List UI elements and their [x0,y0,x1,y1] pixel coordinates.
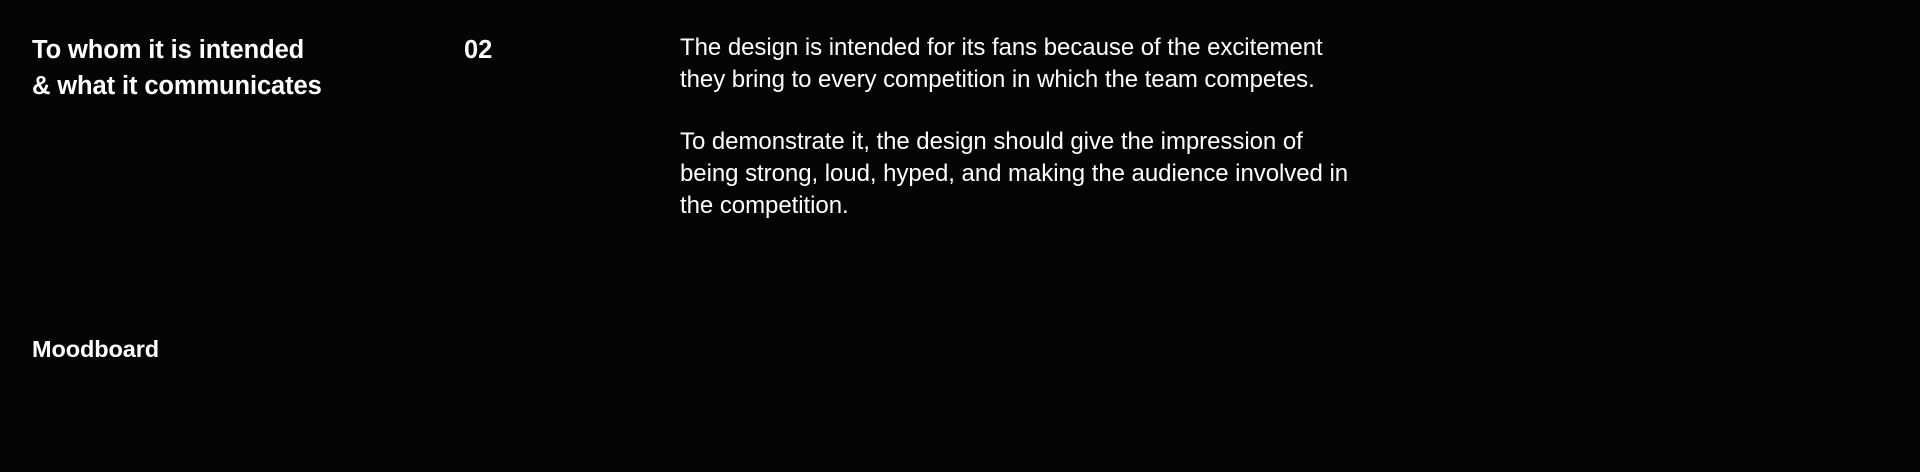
body-copy: The design is intended for its fans beca… [680,32,1520,222]
moodboard-label: Moodboard [32,333,159,366]
body-paragraph-2-line-1: To demonstrate it, the design should giv… [680,126,1520,158]
body-paragraph-2-line-2: being strong, loud, hyped, and making th… [680,158,1520,190]
section-heading: To whom it is intended & what it communi… [32,33,452,104]
section-heading-line-2: & what it communicates [32,69,452,105]
body-paragraph-1-line-1: The design is intended for its fans beca… [680,32,1520,64]
body-paragraph-1-line-2: they bring to every competition in which… [680,64,1520,96]
body-paragraph-1: The design is intended for its fans beca… [680,32,1520,96]
section-number: 02 [464,33,492,69]
section-heading-line-1: To whom it is intended [32,33,452,69]
presentation-slide: To whom it is intended & what it communi… [0,0,1920,472]
body-paragraph-2-line-3: the competition. [680,190,1520,222]
body-paragraph-2: To demonstrate it, the design should giv… [680,126,1520,222]
